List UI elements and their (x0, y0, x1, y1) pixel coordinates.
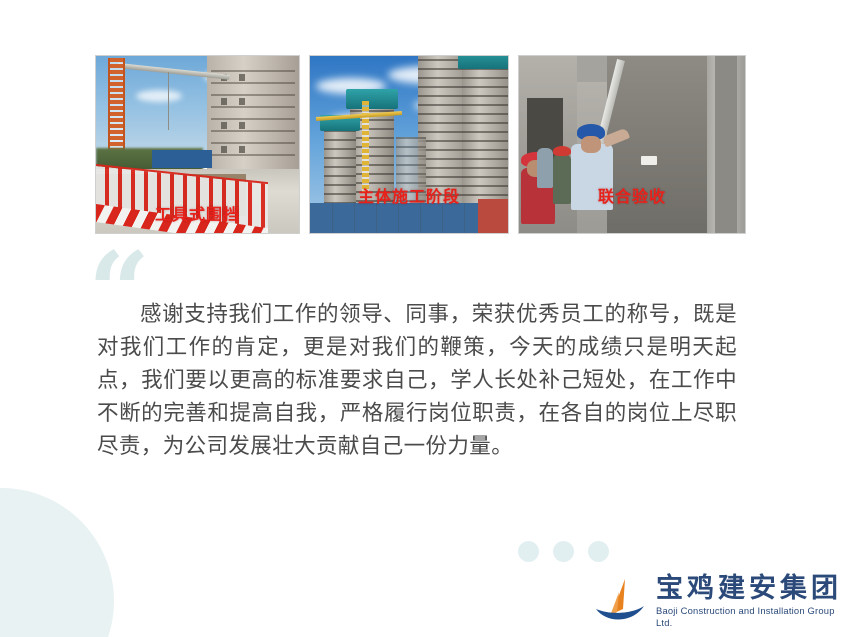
crane-cable (168, 72, 169, 130)
photo-main-structure: 主体施工阶段 (309, 55, 509, 234)
photo-strip: 工具式围挡 (95, 55, 746, 234)
photo-caption: 主体施工阶段 (310, 183, 508, 207)
photo-tool-fence: 工具式围挡 (95, 55, 300, 234)
blue-hoarding (152, 150, 212, 168)
worker-body (537, 148, 553, 188)
logo-text-block: 宝鸡建安集团 Baoji Construction and Installati… (656, 574, 842, 628)
logo-name-cn: 宝鸡建安集团 (656, 574, 842, 604)
decorative-dot (588, 541, 609, 562)
inspector-head (581, 136, 601, 153)
presentation-slide: 工具式围挡 (0, 0, 850, 637)
photo-caption: 联合验收 (519, 183, 745, 207)
scaffold-cap (458, 55, 509, 69)
sail-boat-logo-icon (592, 576, 648, 626)
decorative-dot (518, 541, 539, 562)
logo-name-en: Baoji Construction and Installation Grou… (656, 605, 842, 628)
decorative-corner-circle (0, 488, 114, 637)
company-logo: 宝鸡建安集团 Baoji Construction and Installati… (592, 572, 842, 630)
decorative-dot (553, 541, 574, 562)
quote-body-text: 感谢支持我们工作的领导、同事，荣获优秀员工的称号，既是对我们工作的肯定，更是对我… (97, 298, 737, 463)
scaffold-cap (346, 89, 398, 109)
photo-joint-acceptance: 联合验收 (518, 55, 746, 234)
wall-sockets (641, 156, 657, 165)
decorative-dot-group (518, 541, 609, 562)
red-hard-hat (553, 146, 571, 156)
photo-caption: 工具式围挡 (96, 201, 299, 225)
cloud (136, 90, 182, 102)
